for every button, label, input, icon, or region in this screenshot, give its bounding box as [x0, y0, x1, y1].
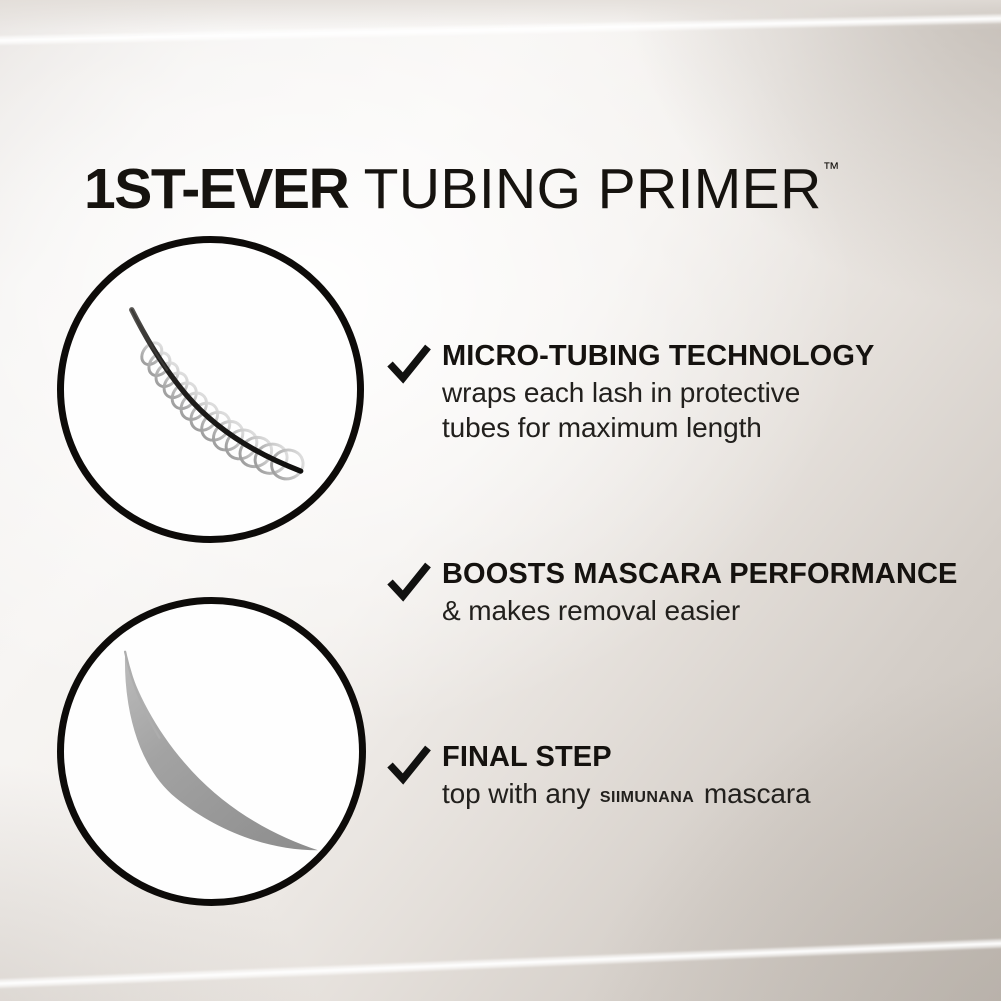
feature-heading: BOOSTS MASCARA PERFORMANCE: [442, 556, 957, 592]
feature-line: & makes removal easier: [442, 594, 957, 627]
feature-bullet: FINAL STEP top with any SIIMUNANA mascar…: [386, 739, 811, 815]
product-feature-card: 1ST-EVER TUBING PRIMER™: [0, 0, 1001, 1001]
coated-lash-image: [57, 597, 366, 906]
top-edge-shade: [0, 0, 1001, 30]
top-highlight-streak: [0, 10, 1001, 48]
feature-bullet-text: FINAL STEP top with any SIIMUNANA mascar…: [432, 739, 811, 815]
title-light: TUBING PRIMER: [348, 157, 821, 221]
feature-line-prefix: top with any: [442, 778, 598, 809]
check-icon: [386, 743, 432, 789]
feature-bullet: BOOSTS MASCARA PERFORMANCE & makes remov…: [386, 556, 957, 627]
page-title: 1ST-EVER TUBING PRIMER™: [84, 151, 839, 221]
feature-bullet-text: MICRO-TUBING TECHNOLOGY wraps each lash …: [432, 338, 874, 444]
coated-lash-crescent: [125, 652, 318, 851]
check-icon: [386, 342, 432, 388]
title-strong: 1ST-EVER: [84, 157, 348, 221]
feature-heading: FINAL STEP: [442, 739, 811, 775]
feature-line: top with any SIIMUNANA mascara: [442, 777, 811, 815]
lash-with-microtubes-image: [57, 236, 364, 543]
feature-line: wraps each lash in protective: [442, 376, 874, 409]
feature-bullet: MICRO-TUBING TECHNOLOGY wraps each lash …: [386, 338, 874, 444]
lash-microtube-illustration: [64, 243, 357, 536]
check-icon: [386, 560, 432, 606]
feature-heading: MICRO-TUBING TECHNOLOGY: [442, 338, 874, 374]
feature-line-suffix: mascara: [696, 778, 810, 809]
coated-lash-illustration: [64, 604, 359, 899]
feature-bullet-text: BOOSTS MASCARA PERFORMANCE & makes remov…: [432, 556, 957, 627]
feature-line: tubes for maximum length: [442, 411, 874, 444]
brand-name: SIIMUNANA: [598, 789, 696, 806]
trademark-symbol: ™: [823, 159, 840, 178]
bottom-highlight-streak: [0, 933, 1001, 994]
